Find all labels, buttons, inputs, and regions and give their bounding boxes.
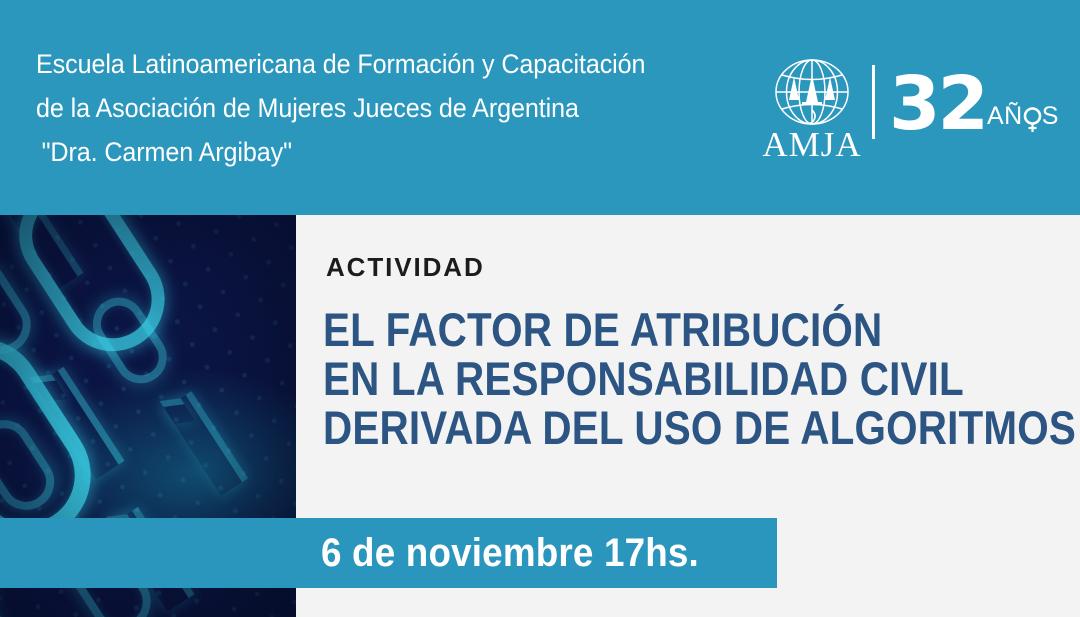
- institution-title: Escuela Latinoamericana de Formación y C…: [36, 42, 678, 174]
- poster-header: Escuela Latinoamericana de Formación y C…: [0, 0, 1080, 215]
- venus-symbol-icon: [1023, 104, 1042, 129]
- event-poster: Escuela Latinoamericana de Formación y C…: [0, 0, 1080, 617]
- activity-kicker: ACTIVIDAD: [326, 252, 485, 283]
- institution-line-1: Escuela Latinoamericana de Formación y C…: [36, 42, 678, 86]
- anniversary-word-s: S: [1042, 104, 1059, 129]
- title-line-3: DERIVADA DEL USO DE ALGORITMOS: [323, 403, 959, 452]
- title-line-1: EL FACTOR DE ATRIBUCIÓN: [323, 305, 959, 354]
- amja-logo-block: AMJA 32 AÑ S: [758, 52, 1026, 164]
- institution-line-2: de la Asociación de Mujeres Jueces de Ar…: [36, 86, 678, 130]
- anniversary-badge: 32 AÑ S: [889, 74, 1059, 135]
- anniversary-word: AÑ S: [987, 104, 1059, 134]
- title-line-2: EN LA RESPONSABILIDAD CIVIL: [323, 354, 959, 403]
- globe-scales-icon: AMJA: [758, 53, 866, 163]
- svg-text:AMJA: AMJA: [762, 125, 861, 163]
- page-title: EL FACTOR DE ATRIBUCIÓN EN LA RESPONSABI…: [323, 305, 959, 452]
- date-text: 6 de noviembre 17hs.: [321, 519, 726, 587]
- institution-line-3: "Dra. Carmen Argibay": [36, 130, 678, 174]
- anniversary-number: 32: [889, 74, 986, 135]
- vertical-divider-icon: [872, 65, 875, 139]
- anniversary-word-anos: AÑ: [987, 104, 1023, 129]
